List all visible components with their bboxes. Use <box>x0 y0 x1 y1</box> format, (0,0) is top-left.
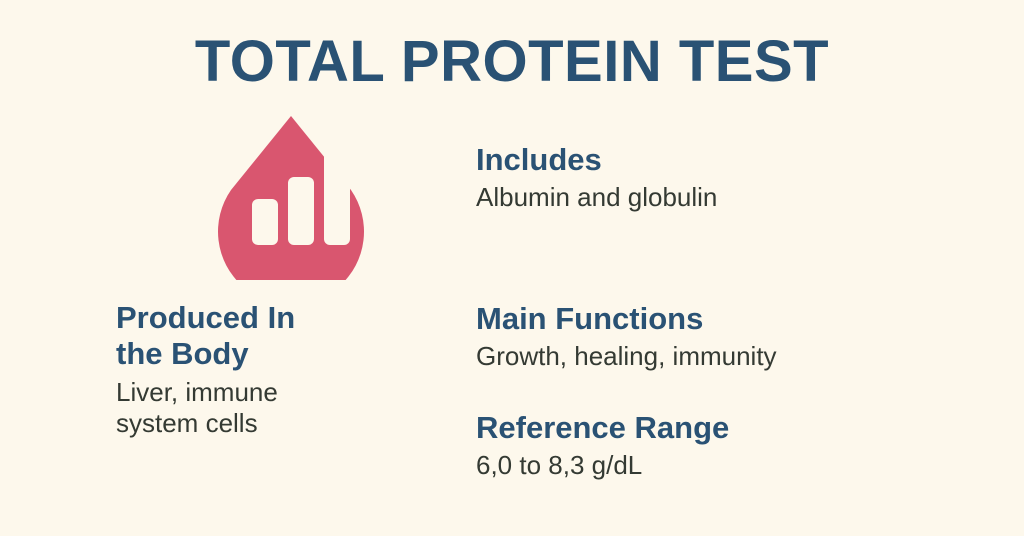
produced-body: Liver, immune system cells <box>116 377 446 439</box>
produced-heading: Produced In the Body <box>116 300 446 373</box>
functions-body: Growth, healing, immunity <box>476 341 936 372</box>
block-reference-range: Reference Range 6,0 to 8,3 g/dL <box>476 410 936 481</box>
bar-3 <box>324 149 350 245</box>
block-produced-in-the-body: Produced In the Body Liver, immune syste… <box>116 300 446 439</box>
bar-2 <box>288 177 314 245</box>
page-title: TOTAL PROTEIN TEST <box>0 32 1024 93</box>
includes-body: Albumin and globulin <box>476 182 936 213</box>
infographic-poster: TOTAL PROTEIN TEST Produced In the Body … <box>0 0 1024 536</box>
range-heading: Reference Range <box>476 410 936 446</box>
block-includes: Includes Albumin and globulin <box>476 142 936 213</box>
blood-drop-with-bar-chart-icon <box>218 114 364 280</box>
droplet-svg <box>218 114 364 280</box>
range-body: 6,0 to 8,3 g/dL <box>476 450 936 481</box>
bar-1 <box>252 199 278 245</box>
block-main-functions: Main Functions Growth, healing, immunity <box>476 301 936 372</box>
includes-heading: Includes <box>476 142 936 178</box>
functions-heading: Main Functions <box>476 301 936 337</box>
